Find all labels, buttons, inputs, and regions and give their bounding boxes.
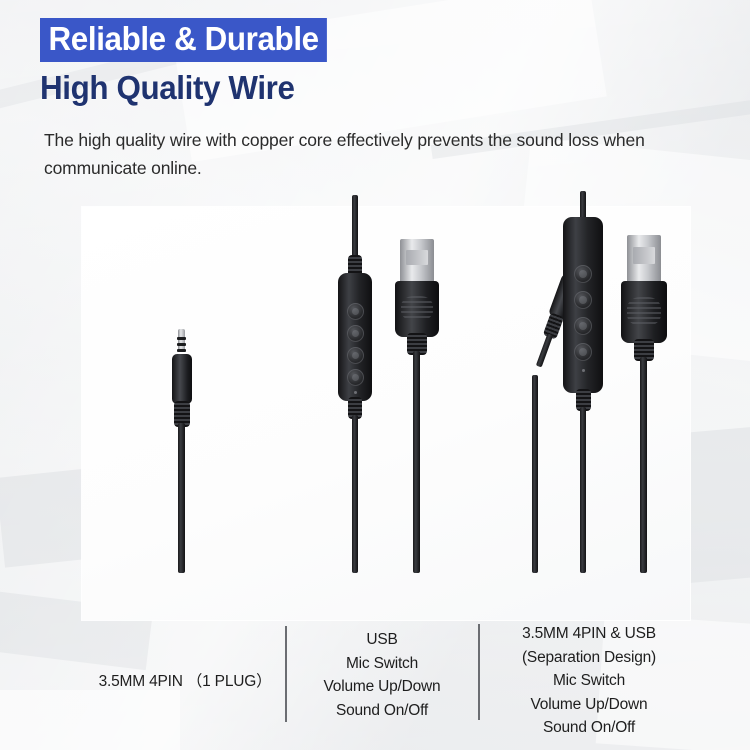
plug-ring-icon (177, 337, 186, 340)
caption-line: (Separation Design) (484, 646, 694, 670)
product-stage (82, 207, 690, 620)
caption-line: Volume Up/Down (292, 675, 472, 699)
volume-down-button[interactable] (574, 291, 592, 309)
plug-ring-icon (177, 343, 186, 346)
cable (178, 423, 185, 573)
volume-up-button[interactable] (574, 317, 592, 335)
status-led-icon (582, 369, 585, 372)
sound-toggle-button[interactable] (574, 343, 592, 361)
usb-connector-body (621, 281, 667, 343)
caption-line: Sound On/Off (484, 716, 694, 740)
cable (352, 415, 358, 573)
caption-line: Mic Switch (484, 669, 694, 693)
product-image-panel (82, 207, 690, 620)
volume-up-button[interactable] (347, 347, 364, 364)
plug-ring-icon (177, 349, 186, 352)
caption-column-single-plug: 3.5MM 4PIN （1 PLUG） (90, 670, 280, 694)
caption-line: 3.5MM 4PIN （1 PLUG） (90, 670, 280, 694)
cable (580, 191, 586, 219)
caption-column-separation: 3.5MM 4PIN & USB (Separation Design) Mic… (484, 622, 694, 740)
caption-line: Volume Up/Down (484, 693, 694, 717)
sound-toggle-button[interactable] (347, 369, 364, 386)
caption-line: USB (292, 628, 472, 652)
caption-line: Mic Switch (292, 652, 472, 676)
volume-down-button[interactable] (347, 325, 364, 342)
header: Reliable & Durable High Quality Wire (40, 18, 740, 107)
caption-line: Sound On/Off (292, 699, 472, 723)
usb-connector-body (395, 281, 439, 337)
caption-divider (285, 626, 287, 722)
cable (640, 357, 647, 573)
caption-line: 3.5MM 4PIN & USB (484, 622, 694, 646)
plug-tip-icon (178, 329, 185, 351)
inline-control-box (563, 217, 603, 393)
plug-body (172, 354, 192, 404)
status-led-icon (354, 391, 357, 394)
page-title-badge: Reliable & Durable (40, 18, 327, 62)
page-subtitle: High Quality Wire (40, 70, 705, 107)
description-text: The high quality wire with copper core e… (44, 126, 720, 183)
inline-control-box (338, 273, 372, 401)
usb-connector-shell (627, 235, 661, 283)
cable (532, 375, 538, 573)
caption-row: 3.5MM 4PIN （1 PLUG） USB Mic Switch Volum… (0, 622, 750, 742)
usb-connector-shell (400, 239, 434, 283)
mic-switch-button[interactable] (347, 303, 364, 320)
cable (580, 407, 586, 573)
product-infographic: Reliable & Durable High Quality Wire The… (0, 0, 750, 750)
mic-switch-button[interactable] (574, 265, 592, 283)
caption-column-usb: USB Mic Switch Volume Up/Down Sound On/O… (292, 628, 472, 722)
cable (413, 351, 420, 573)
cable (536, 333, 553, 367)
caption-divider (478, 624, 480, 720)
